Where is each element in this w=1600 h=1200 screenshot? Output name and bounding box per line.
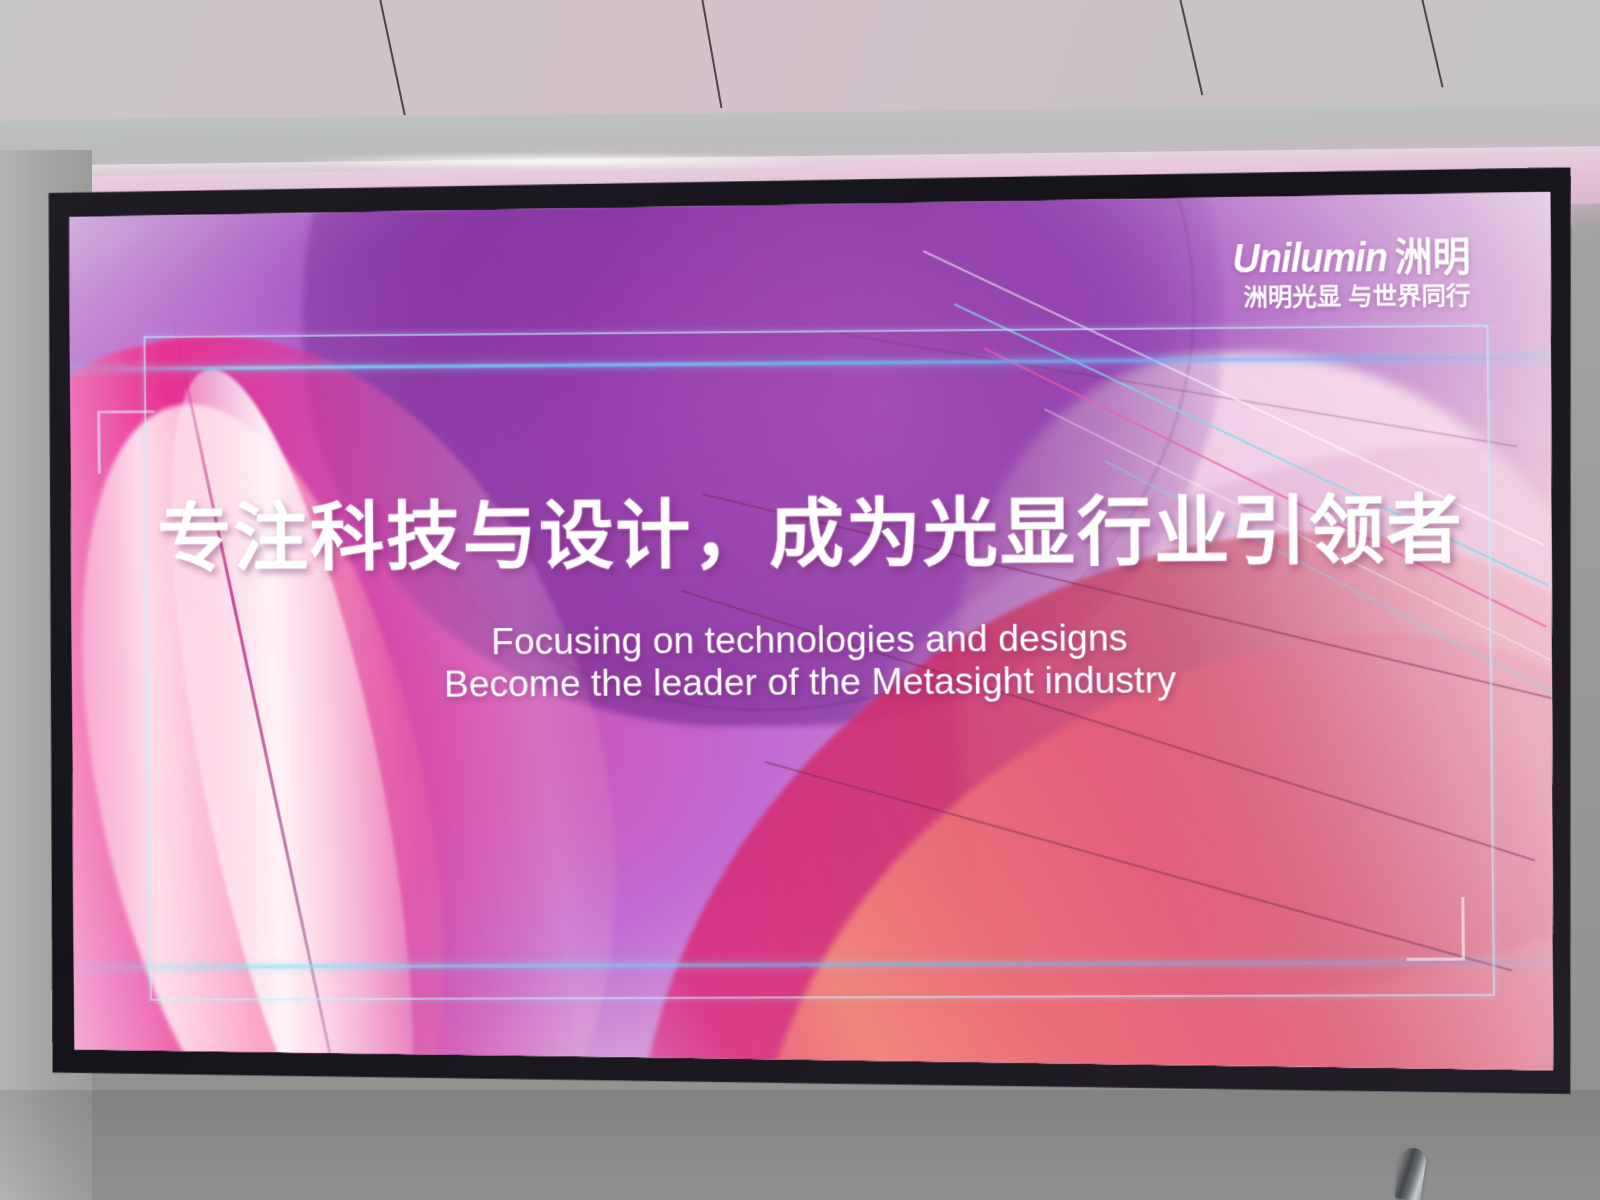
slide-headline: 专注科技与设计，成为光显行业引领者 — [69, 492, 1554, 577]
ceiling-seam-1 — [378, 0, 406, 115]
room-photo-scene: Unilumin洲明 洲明光显 与世界同行 专注科技与设计，成为光显行业引领者 … — [0, 0, 1600, 1200]
logo-wordmark-chinese: 洲明 — [1394, 235, 1470, 280]
screen-panel[interactable]: Unilumin洲明 洲明光显 与世界同行 专注科技与设计，成为光显行业引领者 … — [66, 192, 1559, 1080]
logo-tagline: 洲明光显 与世界同行 — [1215, 284, 1471, 310]
soffit-light-reflection — [280, 152, 840, 170]
slide-subtitle-line-2: Become the leader of the Metasight indus… — [71, 657, 1556, 708]
ceiling-seam-2 — [700, 0, 722, 108]
decorative-corner-top-left — [98, 411, 156, 474]
ceiling-seam-3 — [1178, 0, 1203, 95]
decorative-corner-bottom-right — [1406, 897, 1465, 961]
logo-wordmark-latin: Unilumin — [1232, 235, 1387, 281]
led-video-wall[interactable]: Unilumin洲明 洲明光显 与世界同行 专注科技与设计，成为光显行业引领者 … — [44, 167, 1580, 1102]
logo-wordmark: Unilumin洲明 — [1232, 237, 1470, 280]
ceiling-seam-4 — [1420, 0, 1444, 88]
unilumin-logo: Unilumin洲明 洲明光显 与世界同行 — [1214, 237, 1471, 311]
wall-shadow-under-screen — [0, 1090, 1600, 1200]
